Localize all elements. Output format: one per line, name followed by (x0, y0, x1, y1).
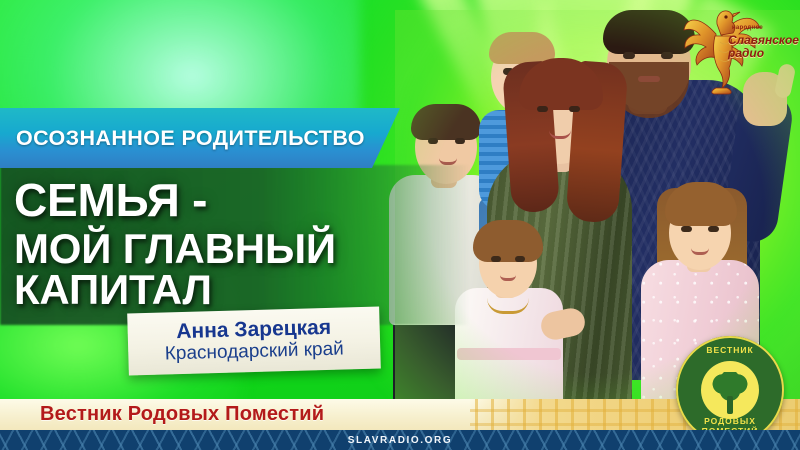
page-title: СЕМЬЯ - МОЙ ГЛАВНЫЙ КАПИТАЛ (14, 178, 484, 310)
slavyanskoe-radio-logo: народное Славянское радио (676, 4, 796, 96)
eyebrow-banner: ОСОЗНАННОЕ РОДИТЕЛЬСТВО (0, 108, 400, 168)
speaker-region: Краснодарский край (165, 339, 344, 365)
radio-name: Славянское радио (728, 34, 796, 60)
title-line-1: СЕМЬЯ - (14, 178, 484, 223)
website-url: SLAVRADIO.ORG (348, 435, 453, 446)
title-line-2: МОЙ ГЛАВНЫЙ КАПИТАЛ (14, 228, 484, 310)
poster-canvas: ОСОЗНАННОЕ РОДИТЕЛЬСТВО СЕМЬЯ - МОЙ ГЛАВ… (0, 0, 800, 450)
emblem-ring-top-text: ВЕСТНИК (676, 345, 784, 355)
speaker-nameplate: Анна Зарецкая Краснодарский край (127, 306, 381, 375)
emblem-inner-disc (701, 361, 759, 419)
vestnik-emblem: ВЕСТНИК РОДОВЫХ ПОМЕСТИЙ (676, 336, 784, 444)
bottom-bar-label: Вестник Родовых Поместий (0, 403, 324, 426)
tree-trunk (727, 396, 733, 414)
eyebrow-label: ОСОЗНАННОЕ РОДИТЕЛЬСТВО (0, 126, 365, 151)
url-strip: SLAVRADIO.ORG (0, 430, 800, 450)
radio-superscript: народное (732, 25, 763, 31)
